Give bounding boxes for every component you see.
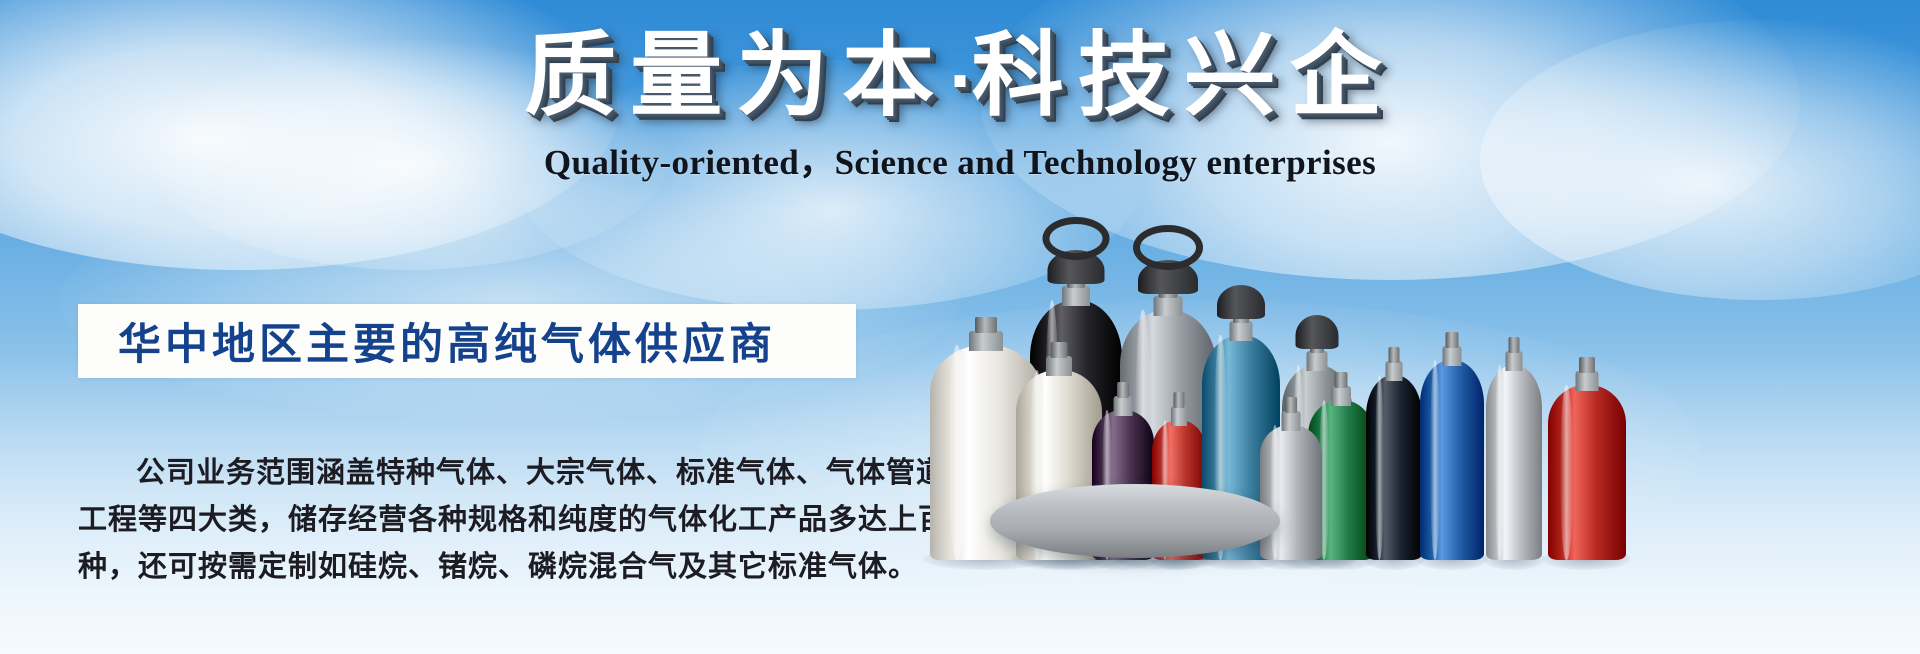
banner-headline: 质量为本·科技兴企 [0,24,1920,127]
cylinder-handle [1043,217,1110,260]
cylinder-body [1548,385,1626,560]
cylinder-body [1366,375,1422,560]
cylinder-neck [1230,321,1253,341]
cylinder-highlight [1495,365,1504,560]
cylinder-neck [1046,356,1072,376]
cylinder-highlight [1270,425,1280,560]
tagline-text: 华中地区主要的高纯气体供应商 [78,310,776,372]
cylinder-valve [1389,347,1400,363]
red-large-cylinder [1548,339,1626,560]
cylinder-neck [969,331,1003,351]
banner-body-copy: 公司业务范围涵盖特种气体、大宗气体、标准气体、气体管道 工程等四大类，储存经营各… [78,450,868,591]
cloud-decoration [60,180,960,420]
cylinder-neck [1171,406,1187,426]
promotional-banner: 质量为本·科技兴企 Quality-oriented，Science and T… [0,0,1920,654]
cylinder-handle [1133,225,1203,270]
cylinder-neck [1062,286,1090,306]
cylinder-valve [1117,382,1129,398]
cylinder-body [1420,360,1484,560]
cylinder-neck [1576,371,1599,391]
cylinder-highlight [1430,360,1440,560]
aluminium-cylinder [1486,319,1542,560]
cylinder-neck [1154,296,1183,316]
headline-part-1: 质量为本 [524,22,948,129]
cylinder-neck [1114,396,1133,416]
body-line: 工程等四大类，储存经营各种规格和纯度的气体化工产品多达上百 [78,497,868,544]
navy-dark-cylinder [1366,329,1422,560]
cylinder-neck [1443,346,1462,366]
cylinder-valve [1509,337,1520,353]
cylinder-body [1260,425,1322,560]
cylinder-valve [1335,372,1348,388]
silver-lying-cylinder [990,484,1280,558]
blue-cylinder [1420,314,1484,560]
cylinder-neck [1331,386,1351,406]
body-line: 种，还可按需定制如硅烷、锗烷、磷烷混合气及其它标准气体。 [78,544,868,591]
cylinder-neck [1386,361,1403,381]
gas-cylinder-lineup [930,150,1920,560]
tagline-box: 华中地区主要的高纯气体供应商 [78,304,856,378]
cylinder-valve [1285,397,1297,413]
cylinder-body [1486,365,1542,560]
cylinder-valve [1051,342,1068,358]
cylinder-valve [1174,392,1185,408]
headline-separator-dot: · [948,45,972,118]
cylinder-highlight [1375,375,1384,560]
cylinder-neck [1282,411,1301,431]
cylinder-valve [1579,357,1595,373]
headline-part-2: 科技兴企 [972,22,1396,129]
cylinder-cap [1217,285,1265,319]
cylinder-highlight [1560,385,1572,560]
cylinder-valve [975,317,997,333]
cylinder-cap [1296,315,1339,349]
cylinder-valve [1446,332,1459,348]
cylinder-neck [1506,351,1523,371]
cylinder-highlight [948,345,966,560]
body-line: 公司业务范围涵盖特种气体、大宗气体、标准气体、气体管道 [78,450,868,497]
